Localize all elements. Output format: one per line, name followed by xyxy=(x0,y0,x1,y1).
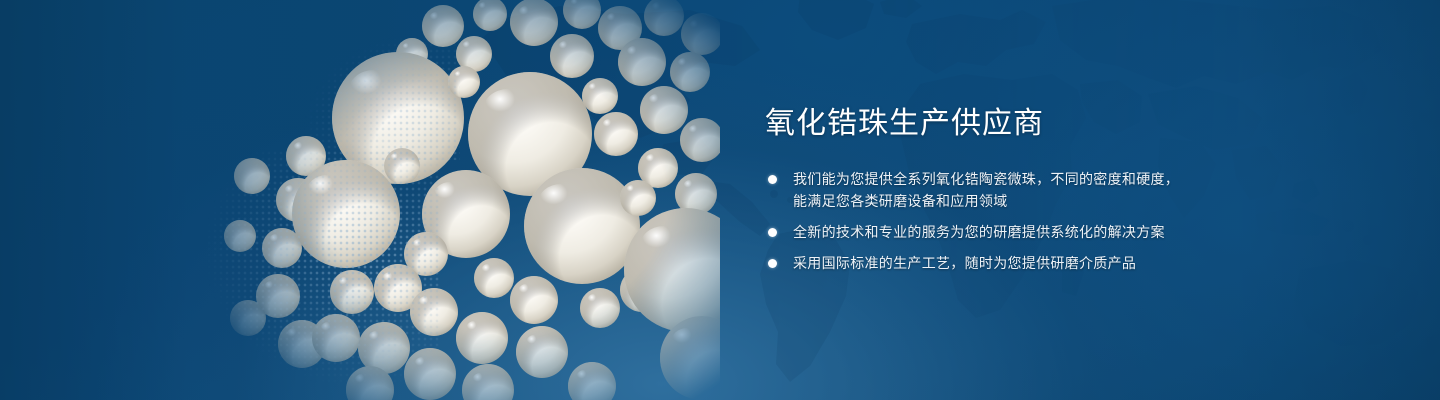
list-item-label: 全新的技术和专业的服务为您的研磨提供系统化的解决方案 xyxy=(793,221,1385,243)
bullet-dot-icon xyxy=(768,259,777,268)
list-item-label: 采用国际标准的生产工艺，随时为您提供研磨介质产品 xyxy=(793,252,1385,274)
bullet-dot-icon xyxy=(768,175,777,184)
zirconia-ceramic-beads-photo xyxy=(130,0,720,400)
list-item: 我们能为您提供全系列氧化锆陶瓷微珠，不同的密度和硬度， 能满足您各类研磨设备和应… xyxy=(765,168,1385,212)
feature-list: 我们能为您提供全系列氧化锆陶瓷微珠，不同的密度和硬度， 能满足您各类研磨设备和应… xyxy=(765,168,1385,274)
hero-banner: 氧化锆珠生产供应商 我们能为您提供全系列氧化锆陶瓷微珠，不同的密度和硬度， 能满… xyxy=(0,0,1440,400)
page-title: 氧化锆珠生产供应商 xyxy=(765,106,1385,142)
list-item-label-cont: 能满足您各类研磨设备和应用领域 xyxy=(793,190,1385,212)
list-item: 全新的技术和专业的服务为您的研磨提供系统化的解决方案 xyxy=(765,221,1385,243)
banner-content: 氧化锆珠生产供应商 我们能为您提供全系列氧化锆陶瓷微珠，不同的密度和硬度， 能满… xyxy=(765,106,1385,274)
list-item-label: 我们能为您提供全系列氧化锆陶瓷微珠，不同的密度和硬度， xyxy=(793,168,1385,190)
list-item: 采用国际标准的生产工艺，随时为您提供研磨介质产品 xyxy=(765,252,1385,274)
bullet-dot-icon xyxy=(768,228,777,237)
